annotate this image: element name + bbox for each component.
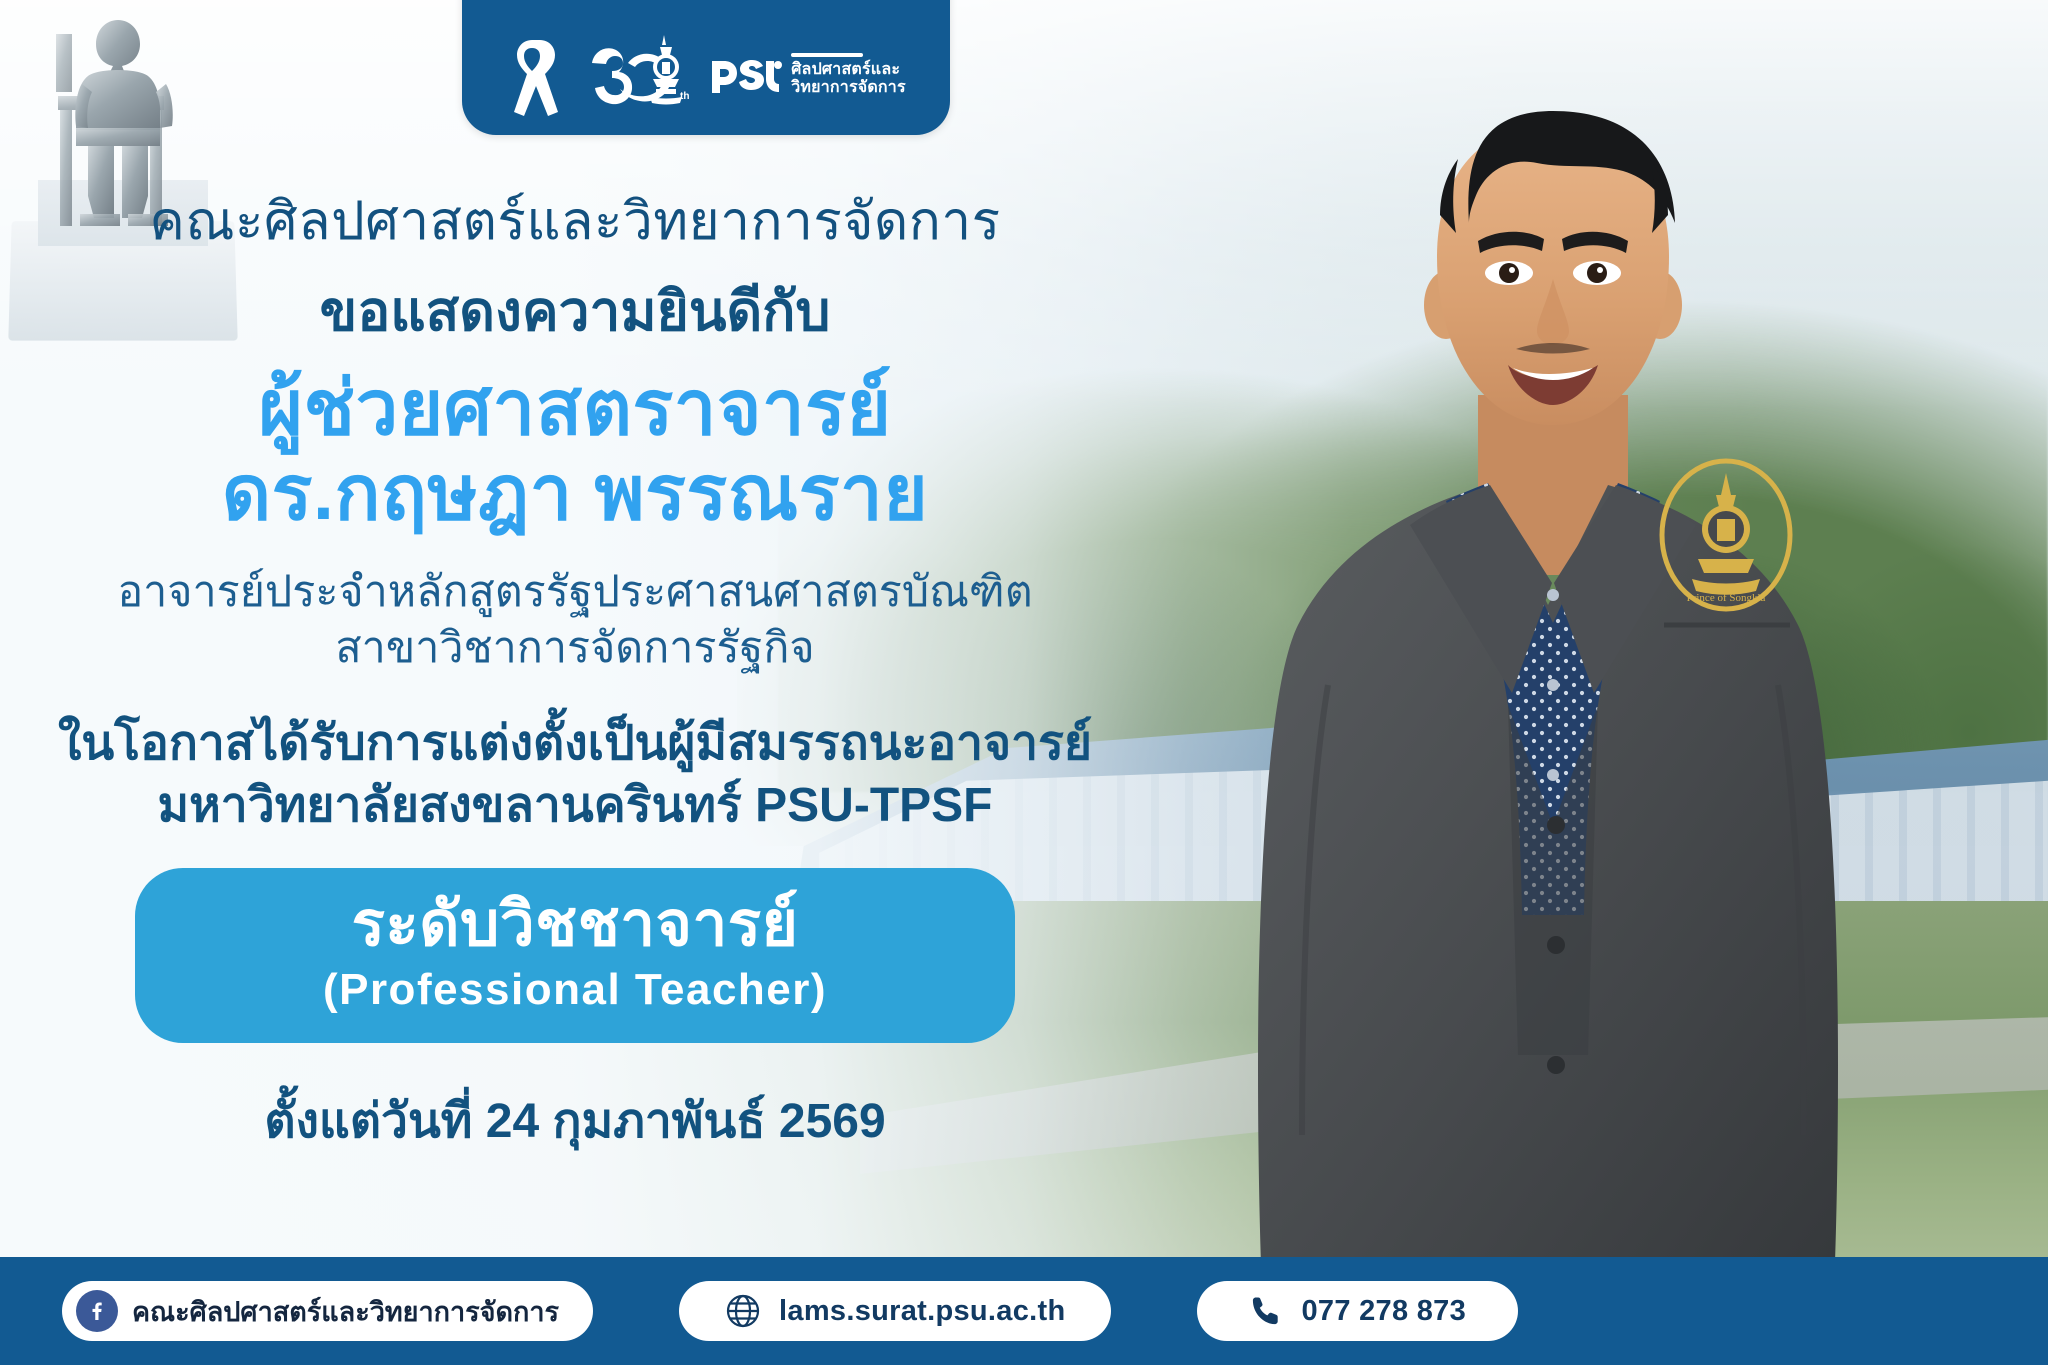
appointment-line-2: มหาวิทยาลัยสงขลานครินทร์ PSU-TPSF [0,775,1150,836]
phone-icon [1249,1294,1283,1328]
role-line-2: สาขาวิชาการจัดการรัฐกิจ [0,621,1150,677]
psu-rule [791,53,863,57]
psu-wordmark-icon [708,55,784,95]
website-label: lams.surat.psu.ac.th [779,1295,1065,1328]
level-badge: ระดับวิชชาจารย์ (Professional Teacher) [135,868,1015,1043]
appointment-line-1: ในโอกาสได้รับการแต่งตั้งเป็นผู้มีสมรรถนะ… [0,713,1150,774]
facebook-label: คณะศิลปศาสตร์และวิทยาการจัดการ [132,1290,559,1333]
phone-label: 077 278 873 [1301,1295,1466,1328]
psu-faculty-thai-label: ศิลปศาสตร์และ วิทยาการจัดการ [791,53,906,97]
psu-logo-lockup: ศิลปศาสตร์และ วิทยาการจัดการ [708,53,906,97]
psu-35th-anniversary-emblem: th [574,29,692,121]
announcement-poster: th ศิลปศาสตร์และ วิทยาการจัดการ [0,0,2048,1365]
effective-date: ตั้งแต่วันที่ 24 กุมภาพันธ์ 2569 [0,1083,1150,1159]
psu-faculty-line2: วิทยาการจัดการ [791,79,906,96]
main-content: คณะศิลปศาสตร์และวิทยาการจัดการ ขอแสดงควา… [0,190,1150,1159]
honoree-title: ผู้ช่วยศาสตราจารย์ [0,366,1150,451]
svg-text:th: th [680,91,689,102]
svg-text:Prince of Songkla: Prince of Songkla [1687,592,1766,604]
role-line-1: อาจารย์ประจำหลักสูตรรัฐประศาสนศาสตรบัณฑิ… [0,565,1150,621]
white-ribbon-icon [506,32,558,118]
website-pill[interactable]: lams.surat.psu.ac.th [679,1281,1111,1341]
globe-icon [725,1293,761,1329]
faculty-heading: คณะศิลปศาสตร์และวิทยาการจัดการ [0,190,1150,254]
psu-faculty-line1: ศิลปศาสตร์และ [791,61,900,78]
footer-bar: คณะศิลปศาสตร์และวิทยาการจัดการ lams.sura… [0,1257,2048,1365]
facebook-pill[interactable]: คณะศิลปศาสตร์และวิทยาการจัดการ [62,1281,593,1341]
honoree-portrait: Prince of Songkla [1178,65,1938,1295]
facebook-icon [76,1290,118,1332]
level-badge-english: (Professional Teacher) [199,962,951,1017]
phone-pill[interactable]: 077 278 873 [1197,1281,1518,1341]
congratulations-heading: ขอแสดงความยินดีกับ [0,278,1150,344]
level-badge-thai: ระดับวิชชาจารย์ [199,888,951,962]
header-logo-chip: th ศิลปศาสตร์และ วิทยาการจัดการ [462,0,950,135]
honoree-name: ดร.กฤษฎา พรรณราย [0,451,1150,538]
